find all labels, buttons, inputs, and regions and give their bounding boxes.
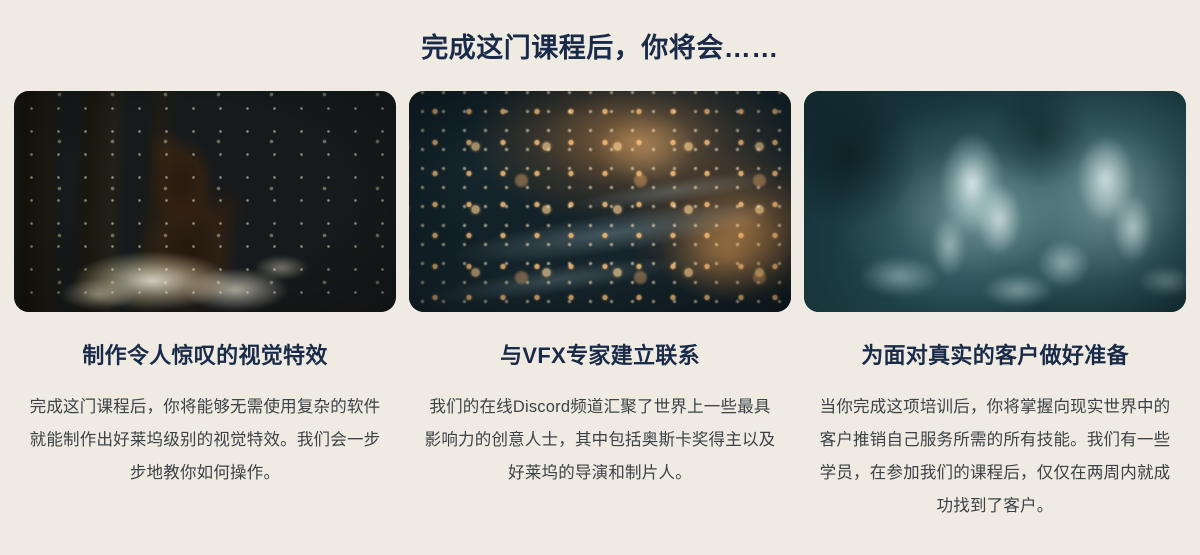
benefit-card-body: 当你完成这项培训后，你将掌握向现实世界中的客户推销自己服务所需的所有技能。我们有…	[817, 391, 1173, 523]
benefit-card-body: 完成这门课程后，你将能够无需使用复杂的软件就能制作出好莱坞级别的视觉特效。我们会…	[27, 391, 383, 490]
benefit-card: 制作令人惊叹的视觉特效 完成这门课程后，你将能够无需使用复杂的软件就能制作出好莱…	[14, 91, 396, 523]
benefit-card-title: 为面对真实的客户做好准备	[861, 342, 1129, 370]
benefit-card-title: 制作令人惊叹的视觉特效	[82, 342, 327, 370]
benefit-card: 为面对真实的客户做好准备 当你完成这项培训后，你将掌握向现实世界中的客户推销自己…	[804, 91, 1186, 523]
image-vignette-layer	[409, 91, 791, 312]
image-vignette-layer	[804, 91, 1186, 312]
benefit-cards-row: 制作令人惊叹的视觉特效 完成这门课程后，你将能够无需使用复杂的软件就能制作出好莱…	[14, 64, 1186, 523]
benefit-card-title: 与VFX专家建立联系	[500, 342, 700, 370]
benefit-card: 与VFX专家建立联系 我们的在线Discord频道汇聚了世界上一些最具影响力的创…	[409, 91, 791, 523]
benefits-section: 完成这门课程后，你将会…… 制作令人惊叹的视觉特效 完成这门课程后，你将能够无需…	[0, 0, 1200, 555]
benefit-card-body: 我们的在线Discord频道汇聚了世界上一些最具影响力的创意人士，其中包括奥斯卡…	[422, 391, 778, 490]
page-title: 完成这门课程后，你将会……	[0, 0, 1200, 64]
benefit-card-image-clients	[804, 91, 1186, 312]
image-vignette-layer	[14, 91, 396, 312]
benefit-card-image-vfx	[14, 91, 396, 312]
benefit-card-image-community	[409, 91, 791, 312]
